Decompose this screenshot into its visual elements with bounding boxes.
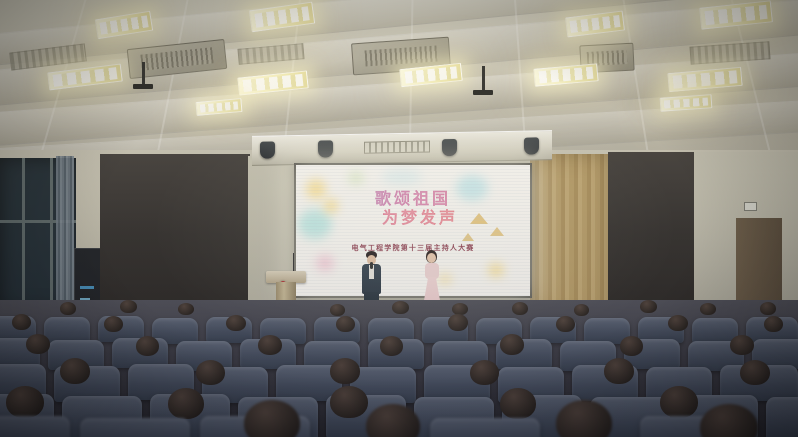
audience-head [168,388,204,419]
slide-title-line-1: 歌颂祖国 [296,189,530,208]
audience-head [26,334,50,354]
audience-head [556,316,575,332]
soffit-beam [252,130,552,166]
projector [133,84,153,89]
curtain [56,156,74,324]
audience-head [120,300,137,313]
wood-wall-panel [530,154,610,322]
audience-head [6,386,44,418]
podium-microphone [293,253,294,271]
audience-head [226,315,246,331]
audience-head [512,302,528,315]
audience-head [500,334,524,355]
projection-screen: 歌颂祖国 为梦发声 电气工程学院第十三届主持人大赛 [296,165,530,296]
audience-head [764,316,783,332]
audience-head [620,336,643,356]
projector-mount [482,66,485,92]
audience-head [700,303,716,315]
audience-seating [0,300,798,437]
audience-head [178,303,194,315]
audience-head [448,314,468,331]
handheld-microphone [370,262,373,269]
audience-head [760,302,776,315]
audience-head [12,314,31,330]
audience-head [660,386,698,418]
dome-speaker [442,139,457,156]
audience-head [258,335,282,355]
audience-head [392,301,409,314]
wall-panel-right [608,152,694,316]
seat [766,397,798,437]
audience-head [730,335,754,355]
audience-head [380,336,403,356]
audience-head [136,336,159,356]
seat-foreground [430,418,540,437]
seat-foreground [80,418,190,437]
audience-head [336,316,355,332]
audience-head [470,360,499,385]
dome-speaker [524,137,539,154]
wall-panel-left [100,154,250,316]
audience-head [330,386,368,418]
auditorium-photo: 歌颂祖国 为梦发声 电气工程学院第十三届主持人大赛 [0,0,798,437]
audience-head [500,388,536,419]
audience-head [330,304,345,316]
slide-subtitle: 电气工程学院第十三届主持人大赛 [296,243,530,253]
slide-title-block: 歌颂祖国 为梦发声 [296,189,530,227]
seat-foreground [0,416,70,437]
audience-head [668,315,688,331]
audience-head [640,300,657,313]
audience-head [60,358,90,384]
audience-head [740,360,770,385]
audience-head [196,360,225,385]
soffit-vent [364,140,430,153]
projector [473,90,493,95]
audience-head [604,358,634,384]
dome-speaker [318,140,333,157]
audience-head-foreground [366,404,420,437]
dome-speaker [260,141,275,158]
audience-head [330,358,360,384]
audience-head [60,302,76,315]
audience-head [574,304,589,316]
projector-mount [142,62,145,86]
slide-title-line-2: 为梦发声 [296,208,530,227]
audience-head [104,316,123,332]
projection-screen-frame: 歌颂祖国 为梦发声 电气工程学院第十三届主持人大赛 [294,163,532,298]
exit-sign-icon [744,202,757,211]
